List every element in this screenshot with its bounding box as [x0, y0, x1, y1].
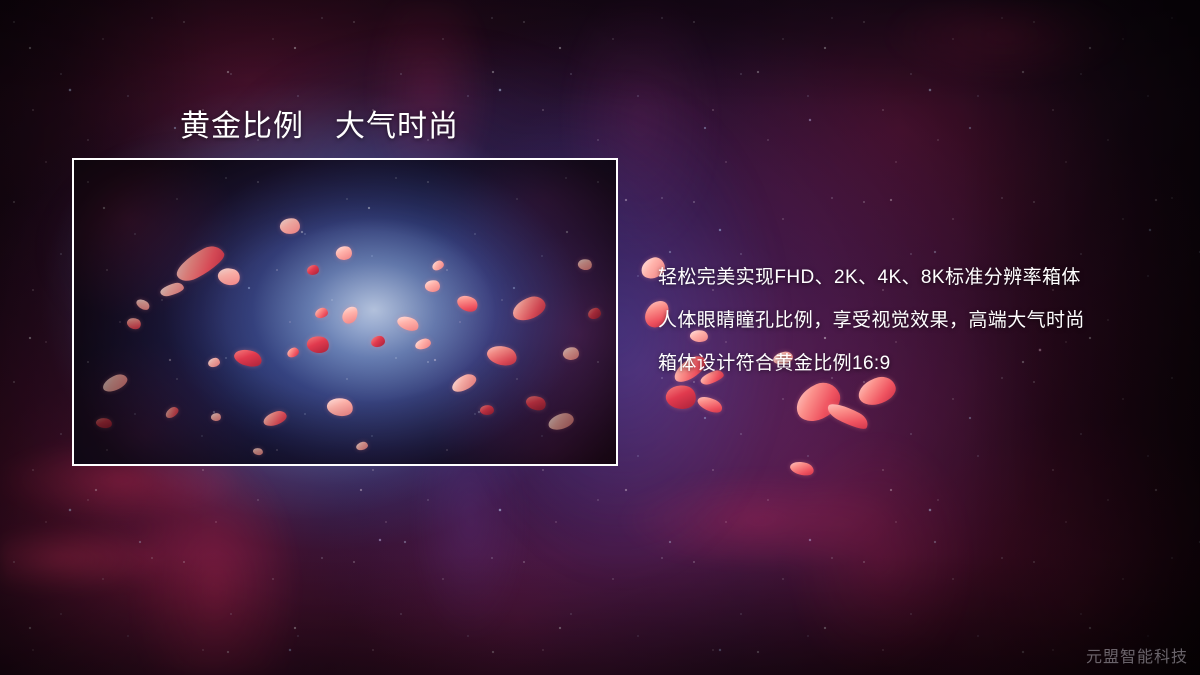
watermark: 元盟智能科技	[1086, 643, 1188, 667]
framed-galaxy-photo	[72, 158, 618, 466]
body-line-1: 轻松完美实现FHD、2K、4K、8K标准分辨率箱体	[658, 256, 1178, 299]
page-title: 黄金比例 大气时尚	[180, 101, 459, 145]
petal	[789, 459, 816, 478]
body-copy-block: 轻松完美实现FHD、2K、4K、8K标准分辨率箱体 人体眼睛瞳孔比例，享受视觉效…	[658, 256, 1178, 385]
slide-canvas: 黄金比例 大气时尚 轻松完美实现FHD、2K、4K、8K标准分辨率箱体 人体眼睛…	[0, 0, 1200, 675]
petal	[664, 382, 699, 413]
petal	[695, 393, 724, 416]
photo-vignette	[74, 160, 616, 464]
body-line-3: 箱体设计符合黄金比例16:9	[658, 342, 1178, 385]
body-line-2: 人体眼睛瞳孔比例，享受视觉效果，高端大气时尚	[658, 299, 1178, 342]
photo-content	[74, 160, 616, 464]
